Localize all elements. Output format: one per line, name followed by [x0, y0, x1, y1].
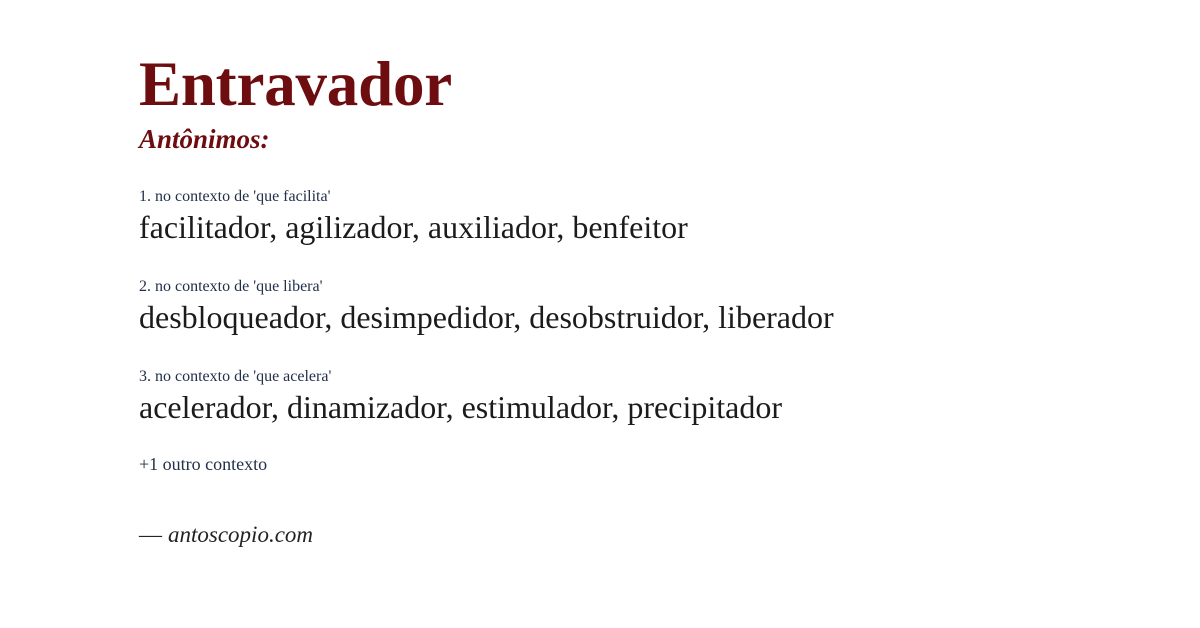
page-title: Entravador	[139, 52, 1200, 116]
sense-context-label: 3. no contexto de 'que acelera'	[139, 367, 1200, 386]
more-contexts-note: +1 outro contexto	[139, 454, 1200, 476]
sense-antonym-list: facilitador, agilizador, auxiliador, ben…	[139, 208, 1200, 247]
card-header: Entravador Antônimos:	[139, 0, 1200, 154]
sense-block: 1. no contexto de 'que facilita' facilit…	[139, 187, 1200, 247]
attribution-source: antoscopio.com	[168, 522, 313, 547]
sense-context-label: 1. no contexto de 'que facilita'	[139, 187, 1200, 206]
sense-block: 2. no contexto de 'que libera' desbloque…	[139, 277, 1200, 337]
sense-list: 1. no contexto de 'que facilita' facilit…	[139, 187, 1200, 428]
sense-antonym-list: desbloqueador, desimpedidor, desobstruid…	[139, 298, 1200, 337]
sense-antonym-list: acelerador, dinamizador, estimulador, pr…	[139, 388, 1200, 427]
section-subtitle: Antônimos:	[139, 125, 1200, 153]
attribution: —antoscopio.com	[139, 521, 1200, 549]
em-dash-glyph: —	[139, 522, 168, 547]
sense-context-label: 2. no contexto de 'que libera'	[139, 277, 1200, 296]
antonyms-card: Entravador Antônimos: 1. no contexto de …	[0, 0, 1200, 628]
sense-block: 3. no contexto de 'que acelera' acelerad…	[139, 367, 1200, 427]
